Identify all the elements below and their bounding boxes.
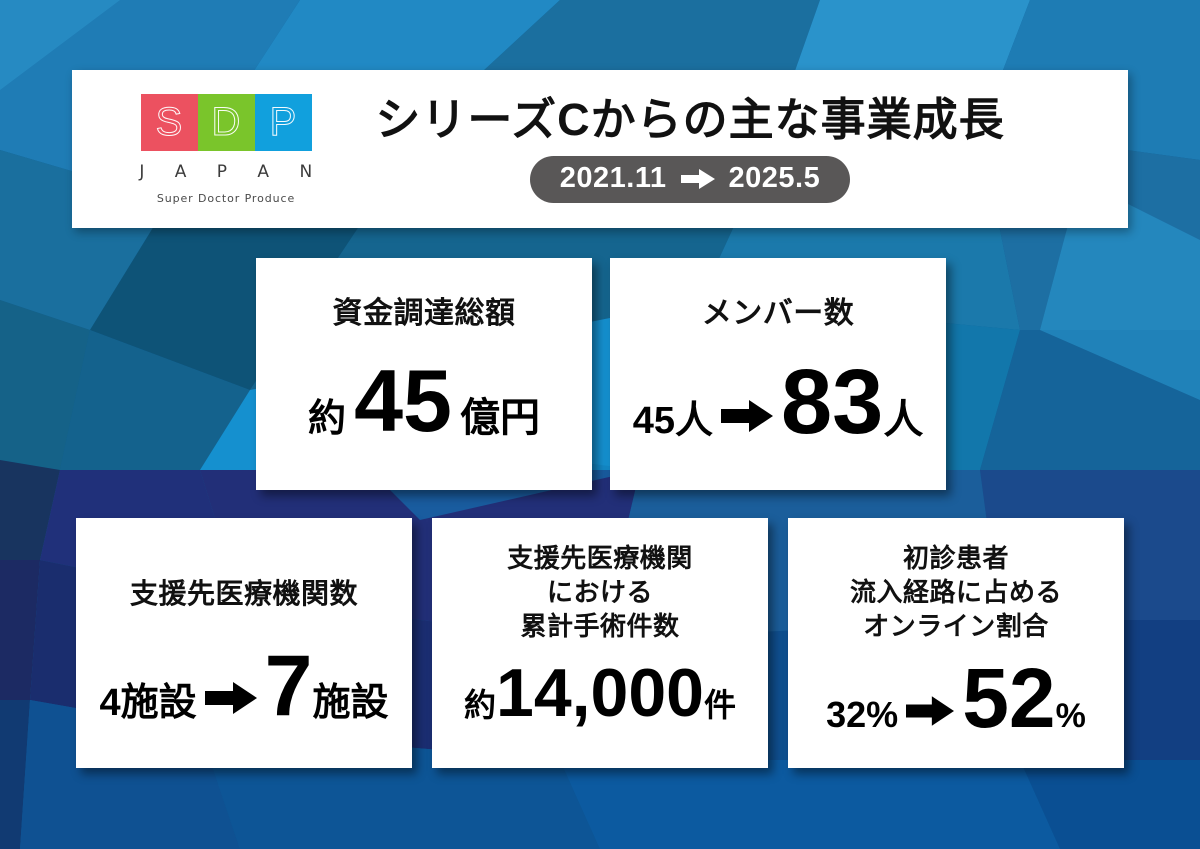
logo-country-text: J A P A N (127, 162, 324, 182)
card-title-online: 初診患者 流入経路に占める オンライン割合 (850, 542, 1062, 643)
date-from: 2021.11 (560, 162, 667, 195)
page-title: シリーズCからの主な事業成長 (375, 95, 1004, 145)
funding-unit: 億円 (460, 385, 540, 443)
logo-squares: S D P (141, 94, 312, 151)
arrow-right-icon (681, 169, 715, 189)
surgeries-unit: 件 (704, 680, 736, 726)
logo-square-p: P (255, 94, 312, 151)
header-text-group: シリーズCからの主な事業成長 2021.11 2025.5 (372, 95, 1128, 204)
card-title-surgeries: 支援先医療機関 における 累計手術件数 (507, 542, 693, 643)
members-number: 83 (781, 359, 883, 446)
card-value-online: 32% 52 % (826, 659, 1086, 739)
online-number: 52 (962, 659, 1055, 739)
logo-tagline: Super Doctor Produce (157, 192, 295, 205)
facilities-before: 4施設 (100, 671, 197, 726)
card-title-facilities: 支援先医療機関数 (130, 576, 358, 612)
metric-card-facilities: 支援先医療機関数 4施設 7 施設 (76, 518, 412, 768)
card-value-members: 45人 83 人 (633, 359, 924, 446)
metric-card-online-ratio: 初診患者 流入経路に占める オンライン割合 32% 52 % (788, 518, 1124, 768)
surgeries-number: 14,000 (496, 661, 704, 726)
card-title-surgeries-line3: 累計手術件数 (507, 610, 693, 644)
funding-number: 45 (354, 359, 452, 443)
facilities-number: 7 (265, 646, 313, 728)
card-value-surgeries: 約 14,000 件 (464, 661, 736, 726)
card-title-surgeries-line1: 支援先医療機関 (507, 542, 693, 576)
card-title-funding: 資金調達総額 (333, 294, 516, 333)
card-title-online-line1: 初診患者 (850, 542, 1062, 576)
card-value-facilities: 4施設 7 施設 (100, 646, 389, 728)
logo-letter-p: P (270, 102, 297, 142)
members-unit: 人 (883, 387, 923, 445)
logo-square-d: D (198, 94, 255, 151)
arrow-right-icon (906, 695, 954, 727)
logo-letter-s: S (156, 102, 183, 142)
surgeries-prefix: 約 (464, 680, 496, 726)
metric-card-funding: 資金調達総額 約 45 億円 (256, 258, 592, 490)
metric-card-surgeries: 支援先医療機関 における 累計手術件数 約 14,000 件 (432, 518, 768, 768)
card-title-online-line2: 流入経路に占める (850, 576, 1062, 610)
members-before: 45人 (633, 389, 713, 444)
online-unit: % (1056, 697, 1086, 736)
card-title-members: メンバー数 (702, 294, 855, 333)
date-to: 2025.5 (729, 162, 821, 195)
logo-letter-d: D (212, 102, 241, 142)
facilities-unit: 施設 (312, 671, 388, 726)
card-title-online-line3: オンライン割合 (850, 610, 1062, 644)
arrow-right-icon (205, 681, 257, 715)
metric-card-members: メンバー数 45人 83 人 (610, 258, 946, 490)
funding-prefix: 約 (308, 387, 346, 442)
sdp-logo: S D P J A P A N Super Doctor Produce (72, 94, 372, 205)
date-range-badge: 2021.11 2025.5 (530, 156, 850, 203)
logo-square-s: S (141, 94, 198, 151)
header-band: S D P J A P A N Super Doctor Produce シリー… (72, 70, 1128, 228)
online-before: 32% (826, 694, 898, 736)
card-title-surgeries-line2: における (507, 576, 693, 610)
arrow-right-icon (721, 399, 773, 433)
card-value-funding: 約 45 億円 (308, 359, 540, 443)
